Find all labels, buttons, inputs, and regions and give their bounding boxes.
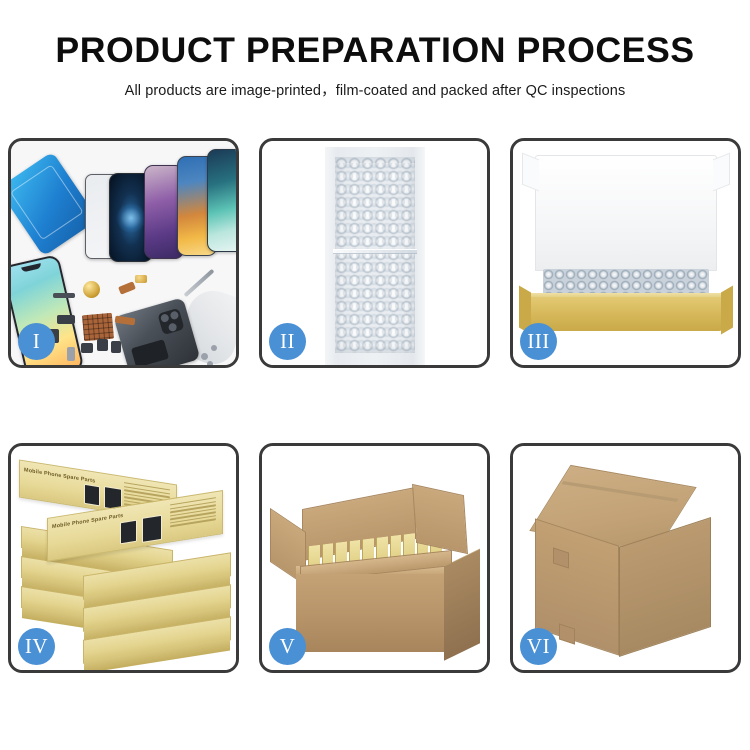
box-label-text: Mobile Phone Spare Parts bbox=[52, 513, 123, 530]
step-panel-4: Mobile Phone Spare Parts Mobile Phone Sp… bbox=[8, 443, 239, 673]
step-5-image: V bbox=[262, 446, 487, 670]
page-title: PRODUCT PREPARATION PROCESS bbox=[0, 33, 750, 70]
camera-module-graphic bbox=[157, 308, 184, 335]
part-graphic bbox=[57, 315, 75, 324]
part-graphic bbox=[135, 275, 147, 283]
step-badge-6: VI bbox=[520, 628, 557, 665]
step-badge-1: I bbox=[18, 323, 55, 360]
mailer-lid-graphic bbox=[535, 155, 717, 271]
step-panel-1: I bbox=[8, 138, 239, 368]
step-badge-2: II bbox=[269, 323, 306, 360]
step-1-image: I bbox=[11, 141, 236, 365]
screw-graphic bbox=[207, 361, 213, 365]
screw-graphic bbox=[201, 353, 208, 360]
step-badge-5: V bbox=[269, 628, 306, 665]
step-panel-6: VI bbox=[510, 443, 741, 673]
part-graphic bbox=[67, 347, 75, 361]
header: PRODUCT PREPARATION PROCESS All products… bbox=[0, 0, 750, 100]
bubble-wrap-pouch-graphic bbox=[325, 147, 425, 365]
pouch-seal-graphic bbox=[333, 249, 417, 254]
carton-right-flap-graphic bbox=[412, 484, 468, 554]
product-preparation-infographic: PRODUCT PREPARATION PROCESS All products… bbox=[0, 0, 750, 750]
step-panel-5: V bbox=[259, 443, 490, 673]
battery-graphic bbox=[131, 339, 169, 365]
part-graphic bbox=[111, 341, 121, 353]
part-graphic bbox=[81, 343, 93, 353]
step-badge-4: IV bbox=[18, 628, 55, 665]
step-2-image: II bbox=[262, 141, 487, 365]
box-screen-image bbox=[84, 484, 100, 507]
step-badge-3: III bbox=[520, 323, 557, 360]
step-panel-3: III bbox=[510, 138, 741, 368]
carton-body-graphic bbox=[296, 574, 446, 652]
mailer-front-panel-graphic bbox=[529, 297, 723, 331]
part-graphic bbox=[97, 339, 108, 351]
gold-component-graphic bbox=[83, 281, 100, 298]
bubble-texture-overlay bbox=[335, 163, 415, 353]
box-label-text: Mobile Phone Spare Parts bbox=[24, 467, 95, 484]
screw-graphic bbox=[211, 345, 217, 351]
step-6-image: VI bbox=[513, 446, 738, 670]
box-screen-image bbox=[120, 520, 137, 545]
part-graphic bbox=[53, 293, 75, 298]
logic-board-graphic bbox=[82, 313, 114, 342]
step-3-image: III bbox=[513, 141, 738, 365]
box-spec-lines bbox=[170, 497, 216, 530]
page-subtitle: All products are image-printed，film-coat… bbox=[0, 79, 750, 100]
step-4-image: Mobile Phone Spare Parts Mobile Phone Sp… bbox=[11, 446, 236, 670]
teal-phone-graphic bbox=[207, 149, 236, 252]
box-screen-image bbox=[142, 515, 162, 543]
process-step-grid: I II III bbox=[8, 138, 742, 673]
step-panel-2: II bbox=[259, 138, 490, 368]
